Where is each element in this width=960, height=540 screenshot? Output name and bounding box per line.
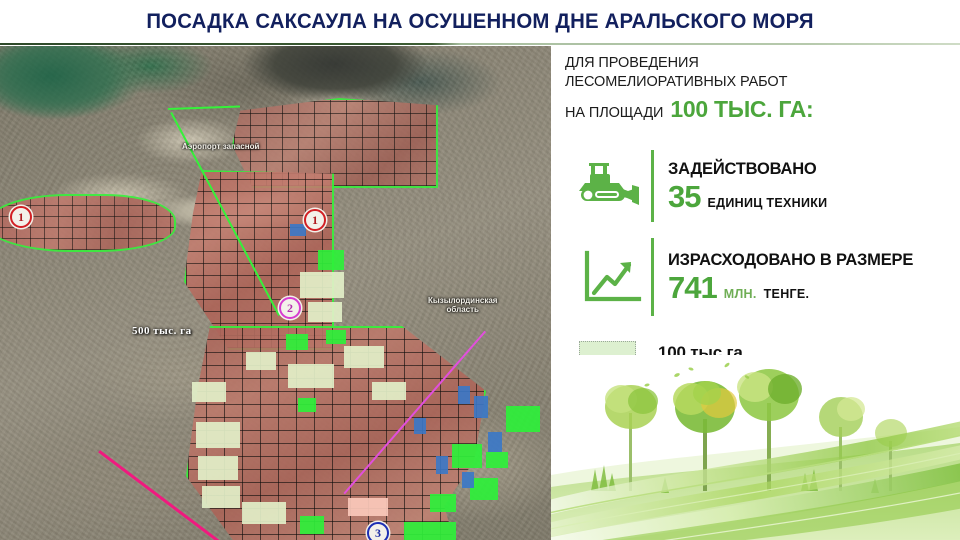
parcel-patch-337 [506, 406, 540, 432]
parcel-patch-337 [470, 478, 498, 500]
map-area-label: 500 тыс. га [132, 325, 192, 337]
stat-expenditure-value: 741 [668, 272, 717, 303]
legend-swatch-337 [579, 411, 636, 435]
intro-area-prefix: НА ПЛОЩАДИ [565, 104, 663, 123]
stat-expenditure: ИЗРАСХОДОВАНО В РАЗМЕРЕ 741 МЛН. ТЕНГЕ. [575, 238, 955, 316]
parcel-patch-100 [198, 456, 238, 480]
map-marker-1[interactable]: 1 [304, 209, 326, 231]
map-label-kyzylorda: Кызылординскаяобласть [428, 296, 497, 314]
growth-chart-icon [575, 249, 649, 305]
map-marker-3[interactable]: 3 [367, 522, 389, 540]
stat-divider [651, 238, 654, 316]
stat-divider [651, 150, 654, 222]
bulldozer-icon [575, 161, 649, 211]
parcel-patch-337 [452, 444, 482, 468]
parcel-patch-337 [318, 250, 344, 270]
parcel-patch-100 [246, 352, 276, 370]
parcel-patch-100 [242, 502, 286, 524]
info-panel: ДЛЯ ПРОВЕДЕНИЯ ЛЕСОМЕЛИОРАТИВНЫХ РАБОТ Н… [551, 46, 960, 540]
parcel-patch-100 [192, 382, 226, 402]
map-marker-2[interactable]: 2 [279, 297, 301, 319]
intro-area-value: 100 ТЫС. ГА: [670, 96, 813, 123]
water-patch [462, 472, 474, 488]
water-patch [290, 224, 306, 236]
parcel-patch-100 [300, 272, 344, 298]
legend-swatch-250 [579, 376, 636, 400]
intro-line-1: ДЛЯ ПРОВЕДЕНИЯ [565, 54, 955, 73]
water-patch [474, 396, 488, 418]
legend-item: 337 тыс.га [579, 408, 743, 438]
water-patch [488, 432, 502, 452]
parcel-patch-100 [202, 486, 240, 508]
title-divider [0, 43, 960, 45]
map-label-airport: Аэропорт запасной [182, 142, 259, 151]
stat-equipment: ЗАДЕЙСТВОВАНО 35 ЕДИНИЦ ТЕХНИКИ [575, 150, 955, 222]
parcel-patch-337 [326, 330, 346, 344]
parcel-patch-337 [300, 516, 324, 534]
stat-equipment-heading: ЗАДЕЙСТВОВАНО [668, 160, 827, 179]
stat-expenditure-value-row: 741 МЛН. ТЕНГЕ. [668, 272, 913, 303]
parcel-patch-337 [286, 334, 308, 350]
parcel-patch-337 [298, 398, 316, 412]
parcel-patch-337 [430, 494, 456, 512]
intro-line-2: ЛЕСОМЕЛИОРАТИВНЫХ РАБОТ [565, 73, 955, 92]
water-patch [414, 418, 426, 434]
intro-block: ДЛЯ ПРОВЕДЕНИЯ ЛЕСОМЕЛИОРАТИВНЫХ РАБОТ Н… [565, 54, 955, 123]
water-remnant-area [0, 46, 170, 146]
parcel-patch-100 [344, 346, 384, 368]
legend-label-100: 100 тыс.га [658, 343, 743, 363]
parcel-patch-337 [404, 522, 456, 540]
stat-equipment-body: ЗАДЕЙСТВОВАНО 35 ЕДИНИЦ ТЕХНИКИ [668, 150, 827, 222]
stat-expenditure-body: ИЗРАСХОДОВАНО В РАЗМЕРЕ 741 МЛН. ТЕНГЕ. [668, 238, 913, 316]
stat-equipment-value: 35 [668, 181, 700, 212]
stat-equipment-unit: ЕДИНИЦ ТЕХНИКИ [707, 196, 827, 210]
page-title: ПОСАДКА САКСАУЛА НА ОСУШЕННОМ ДНЕ АРАЛЬС… [146, 10, 813, 34]
parcel-patch-100 [372, 382, 406, 400]
stat-expenditure-unit-millions: МЛН. [724, 287, 757, 301]
stat-expenditure-heading: ИЗРАСХОДОВАНО В РАЗМЕРЕ [668, 251, 913, 270]
map-legend: 100 тыс.га 250 тыс.га 337 тыс.га [579, 338, 743, 443]
parcel-patch-100 [308, 302, 342, 322]
legend-item: 250 тыс.га [579, 373, 743, 403]
legend-label-337: 337 тыс.га [658, 413, 743, 433]
legend-swatch-100 [579, 341, 636, 365]
satellite-map[interactable]: Аэропорт запасной Кызылординскаяобласть … [0, 46, 551, 540]
title-bar: ПОСАДКА САКСАУЛА НА ОСУШЕННОМ ДНЕ АРАЛЬС… [0, 0, 960, 44]
parcel-patch-337 [486, 452, 508, 468]
water-patch [436, 456, 448, 474]
parcel-patch-100 [288, 364, 334, 388]
legend-label-250: 250 тыс.га [658, 378, 743, 398]
stat-expenditure-unit-currency: ТЕНГЕ. [764, 287, 810, 301]
parcel-patch-250 [348, 498, 388, 516]
water-patch [458, 386, 470, 404]
legend-item: 100 тыс.га [579, 338, 743, 368]
stat-equipment-value-row: 35 ЕДИНИЦ ТЕХНИКИ [668, 181, 827, 212]
map-marker-1[interactable]: 1 [10, 206, 32, 228]
parcel-patch-100 [196, 422, 240, 448]
intro-line-3: НА ПЛОЩАДИ 100 ТЫС. ГА: [565, 96, 955, 123]
